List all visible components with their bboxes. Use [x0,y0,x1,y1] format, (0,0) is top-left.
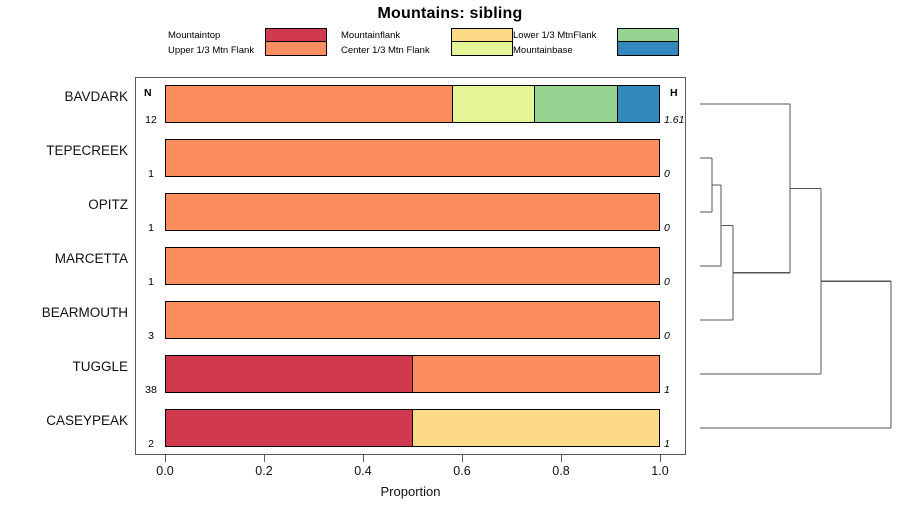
table-row[interactable] [165,301,660,339]
row-label: TUGGLE [8,360,128,374]
x-axis-tick-label: 0.6 [432,464,492,478]
table-row[interactable] [165,247,660,285]
n-value: 12 [138,114,164,126]
row-label: BEARMOUTH [8,306,128,320]
bar-segment[interactable] [412,410,659,446]
legend-label: Lower 1/3 MtnFlank [513,28,596,43]
bar-segment[interactable] [166,248,659,284]
legend-entry: Mountainflank [341,28,430,43]
legend-swatch-lower-flank [617,28,679,42]
table-row[interactable] [165,193,660,231]
bar-segment[interactable] [166,356,412,392]
bar-segment[interactable] [452,86,535,122]
legend-column-1: Mountainflank Center 1/3 Mtn Flank [341,28,430,58]
table-row[interactable] [165,85,660,123]
row-label: BAVDARK [8,90,128,104]
x-axis-tick-label: 1.0 [630,464,690,478]
x-axis-tick [363,455,364,462]
legend-label: Mountaintop [168,28,220,43]
h-column-header: H [670,87,678,99]
bar-segment[interactable] [166,302,659,338]
row-label-axis: BAVDARKTEPECREEKOPITZMARCETTABEARMOUTHTU… [0,77,128,455]
table-row[interactable] [165,409,660,447]
x-axis-tick [264,455,265,462]
legend-swatch-mountaintop [265,28,327,42]
legend-column-0: Mountaintop Upper 1/3 Mtn Flank [168,28,254,58]
n-value: 38 [138,384,164,396]
legend-swatch-group [451,28,513,56]
dendrogram [690,77,900,455]
x-axis-label: Proportion [135,484,686,499]
n-value: 1 [138,222,164,234]
legend-column-2: Lower 1/3 MtnFlank Mountainbase [513,28,596,58]
legend: Mountaintop Upper 1/3 Mtn Flank Mountain… [168,28,688,58]
legend-entry: Mountaintop [168,28,254,43]
x-axis-tick-label: 0.8 [531,464,591,478]
n-value: 1 [138,168,164,180]
row-label: MARCETTA [8,252,128,266]
n-value: 2 [138,438,164,450]
legend-label: Mountainbase [513,43,573,58]
bar-segment[interactable] [166,140,659,176]
row-label: CASEYPEAK [8,414,128,428]
n-value: 3 [138,330,164,342]
chart-title: Mountains: sibling [0,5,900,23]
legend-label: Upper 1/3 Mtn Flank [168,43,254,58]
legend-entry: Center 1/3 Mtn Flank [341,43,430,58]
row-label: TEPECREEK [8,144,128,158]
x-axis-tick [462,455,463,462]
bar-segment[interactable] [166,86,452,122]
legend-swatch-mountainflank [451,28,513,42]
legend-swatch-center-flank [451,42,513,56]
x-axis-tick-label: 0.0 [135,464,195,478]
bar-segment[interactable] [166,410,412,446]
table-row[interactable] [165,139,660,177]
row-label: OPITZ [8,198,128,212]
n-column: N 121113382 [138,77,164,455]
legend-label: Mountainflank [341,28,400,43]
legend-label: Center 1/3 Mtn Flank [341,43,430,58]
x-axis-tick [165,455,166,462]
bar-segment[interactable] [617,86,659,122]
legend-swatch-mountainbase [617,42,679,56]
legend-swatch-group [617,28,679,56]
x-axis-tick-label: 0.2 [234,464,294,478]
n-column-header: N [144,87,152,99]
x-axis-tick-label: 0.4 [333,464,393,478]
bar-segment[interactable] [534,86,617,122]
x-axis-tick [660,455,661,462]
legend-swatch-upper-flank [265,42,327,56]
bar-segment[interactable] [166,194,659,230]
x-axis-tick [561,455,562,462]
legend-entry: Mountainbase [513,43,596,58]
n-value: 1 [138,276,164,288]
dendrogram-svg [690,77,900,455]
legend-entry: Lower 1/3 MtnFlank [513,28,596,43]
legend-swatch-group [265,28,327,56]
chart-canvas: Mountains: sibling Mountaintop Upper 1/3… [0,0,900,520]
bar-segment[interactable] [412,356,659,392]
bar-group [165,77,660,455]
legend-entry: Upper 1/3 Mtn Flank [168,43,254,58]
table-row[interactable] [165,355,660,393]
